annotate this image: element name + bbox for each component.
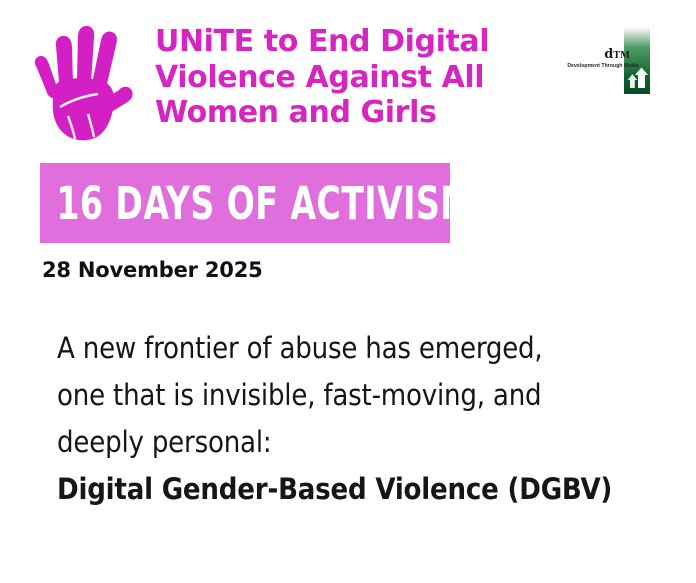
- campaign-heading-line-1: UNiTE to End Digital: [155, 24, 505, 60]
- event-date: 28 November 2025: [42, 257, 263, 283]
- logo-wordmark-tm: TM: [613, 51, 630, 61]
- up-arrow-icon: [625, 66, 649, 90]
- logo-wordmark: dTM: [568, 48, 630, 63]
- dtm-logo: dTM Development Through Media: [568, 28, 650, 94]
- sixteen-days-banner: 16 DAYS OF ACTIVISM: [40, 163, 450, 243]
- body-copy-line-4: Digital Gender-Based Violence (DGBV): [57, 466, 657, 513]
- campaign-heading-line-2: Violence Against All: [155, 60, 505, 96]
- body-copy-line-3: deeply personal:: [57, 419, 657, 466]
- body-copy: A new frontier of abuse has emerged, one…: [57, 325, 657, 513]
- body-copy-line-1: A new frontier of abuse has emerged,: [57, 325, 657, 372]
- body-copy-line-2: one that is invisible, fast-moving, and: [57, 372, 657, 419]
- poster-header: UNiTE to End Digital Violence Against Al…: [0, 0, 696, 150]
- logo-tagline: Development Through Media: [564, 63, 642, 69]
- pink-handprint-icon: [22, 24, 134, 144]
- poster-canvas: UNiTE to End Digital Violence Against Al…: [0, 0, 696, 583]
- logo-wordmark-d: d: [604, 47, 613, 62]
- campaign-heading-line-3: Women and Girls: [155, 95, 505, 131]
- sixteen-days-banner-label: 16 DAYS OF ACTIVISM: [40, 181, 474, 226]
- campaign-heading: UNiTE to End Digital Violence Against Al…: [155, 24, 505, 131]
